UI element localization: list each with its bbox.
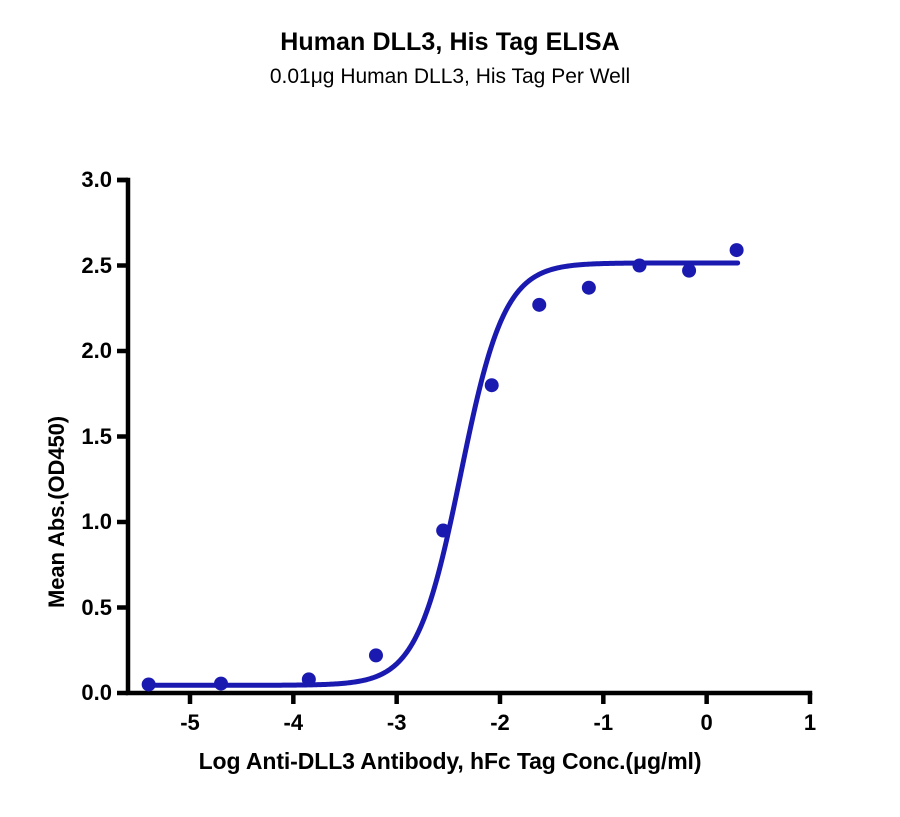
data-point (485, 378, 499, 392)
y-tick-label: 3.0 (52, 169, 112, 191)
fit-curve (149, 263, 738, 685)
x-tick-label: 0 (682, 712, 732, 734)
x-tick-label: -3 (372, 712, 422, 734)
x-tick-label: -2 (475, 712, 525, 734)
x-tick-label: 1 (785, 712, 835, 734)
x-tick-label: -4 (268, 712, 318, 734)
data-point (632, 259, 646, 273)
y-tick-label: 2.5 (52, 255, 112, 277)
data-point (436, 524, 450, 538)
x-tick-label: -5 (165, 712, 215, 734)
data-point (582, 281, 596, 295)
data-point (214, 677, 228, 691)
y-tick-label: 2.0 (52, 340, 112, 362)
plot-canvas (0, 0, 900, 817)
data-point (302, 672, 316, 686)
fit-curve-group (149, 263, 738, 685)
data-point (730, 243, 744, 257)
x-tick-label: -1 (578, 712, 628, 734)
y-axis-label: Mean Abs.(OD450) (44, 416, 70, 608)
plot-area: 0.00.51.01.52.02.53.0 -5-4-3-2-101 Mean … (0, 0, 900, 817)
data-point (682, 264, 696, 278)
y-tick-label: 0.0 (52, 682, 112, 704)
x-axis-label: Log Anti-DLL3 Antibody, hFc Tag Conc.(μg… (0, 748, 900, 775)
data-point (142, 677, 156, 691)
data-point (369, 648, 383, 662)
data-points-group (142, 243, 744, 691)
axes-group (117, 178, 812, 704)
data-point (532, 298, 546, 312)
elisa-chart-figure: Human DLL3, His Tag ELISA 0.01μg Human D… (0, 0, 900, 817)
